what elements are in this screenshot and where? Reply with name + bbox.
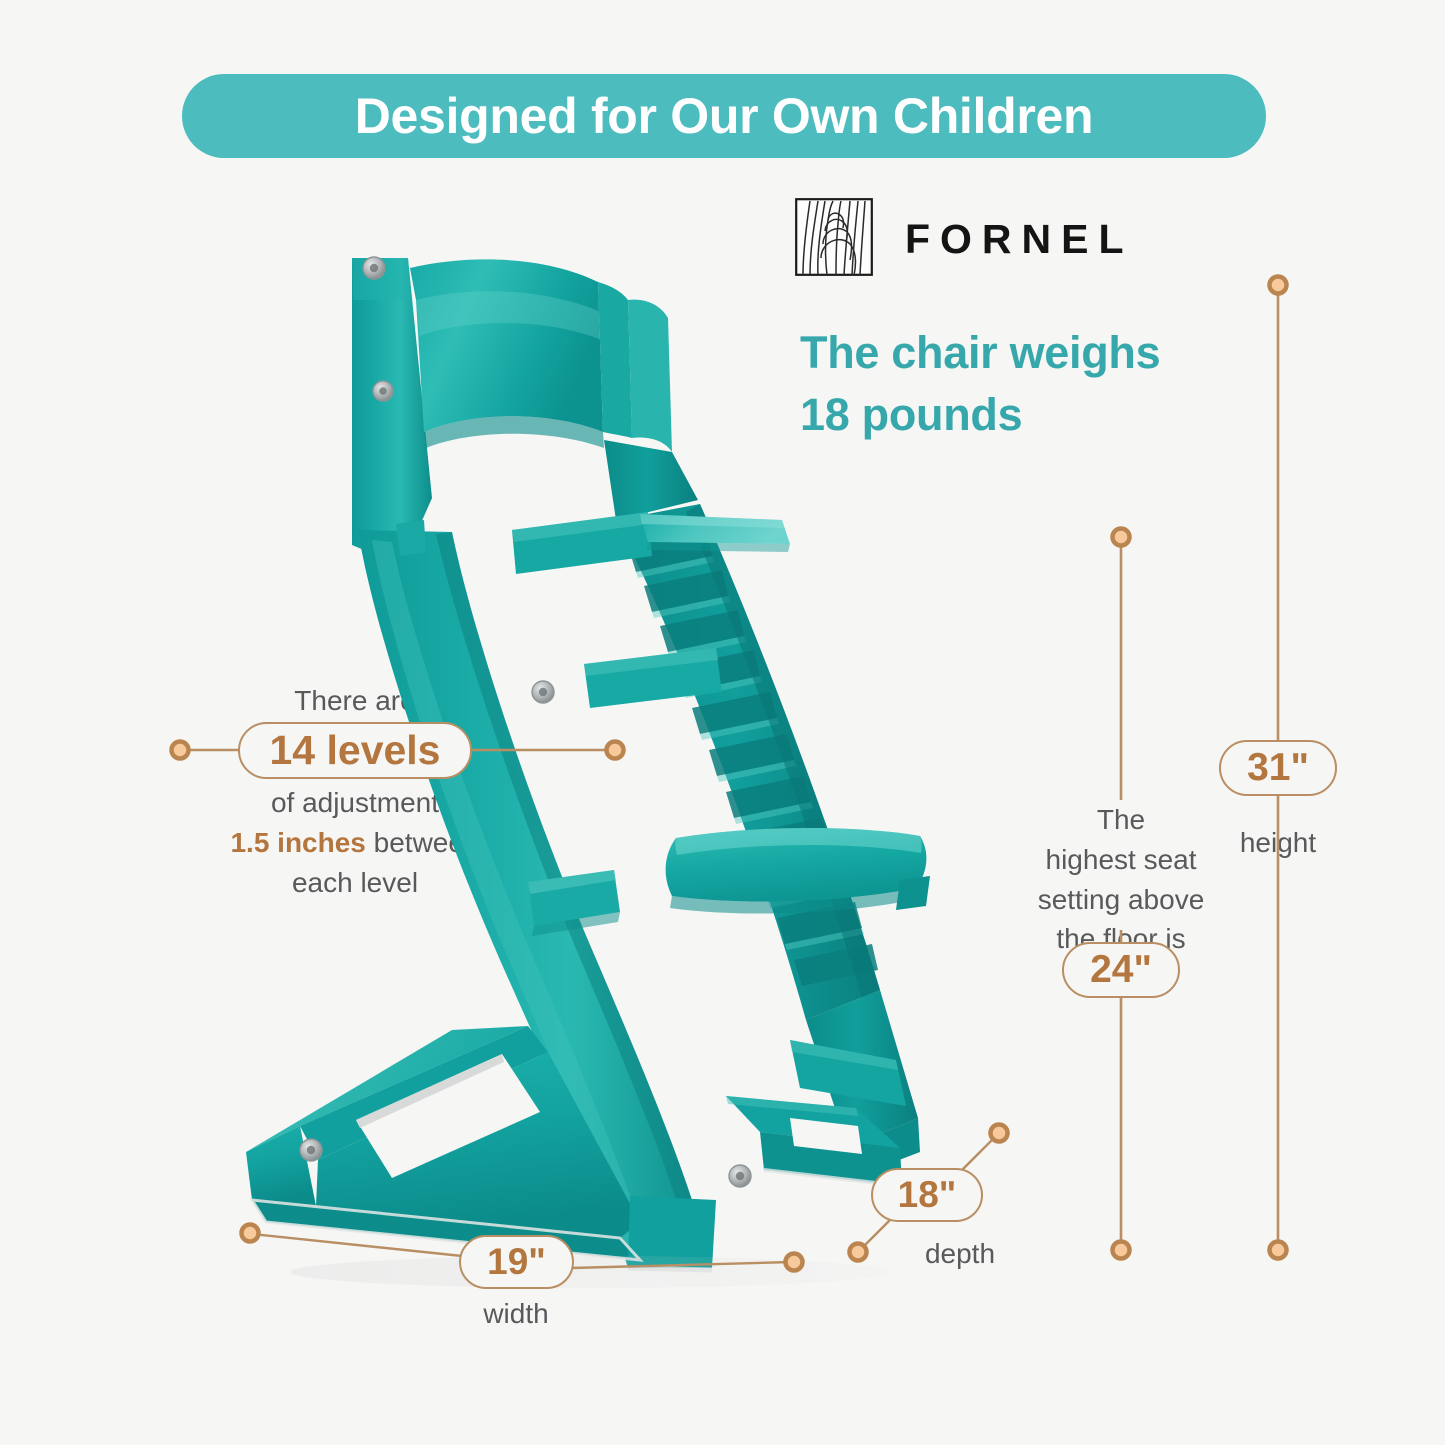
endpoint-marker <box>172 742 189 759</box>
infographic-canvas: Designed for Our Own Children <box>0 0 1445 1445</box>
endpoint-marker <box>242 1225 259 1242</box>
endpoint-marker <box>1113 529 1130 546</box>
endpoint-marker <box>1270 1242 1287 1259</box>
dimension-endpoints <box>0 0 1445 1445</box>
endpoint-marker <box>991 1125 1008 1142</box>
endpoint-marker <box>786 1254 803 1271</box>
endpoint-marker <box>850 1244 867 1261</box>
endpoint-marker <box>1113 1242 1130 1259</box>
endpoint-marker <box>607 742 624 759</box>
endpoint-marker <box>1270 277 1287 294</box>
